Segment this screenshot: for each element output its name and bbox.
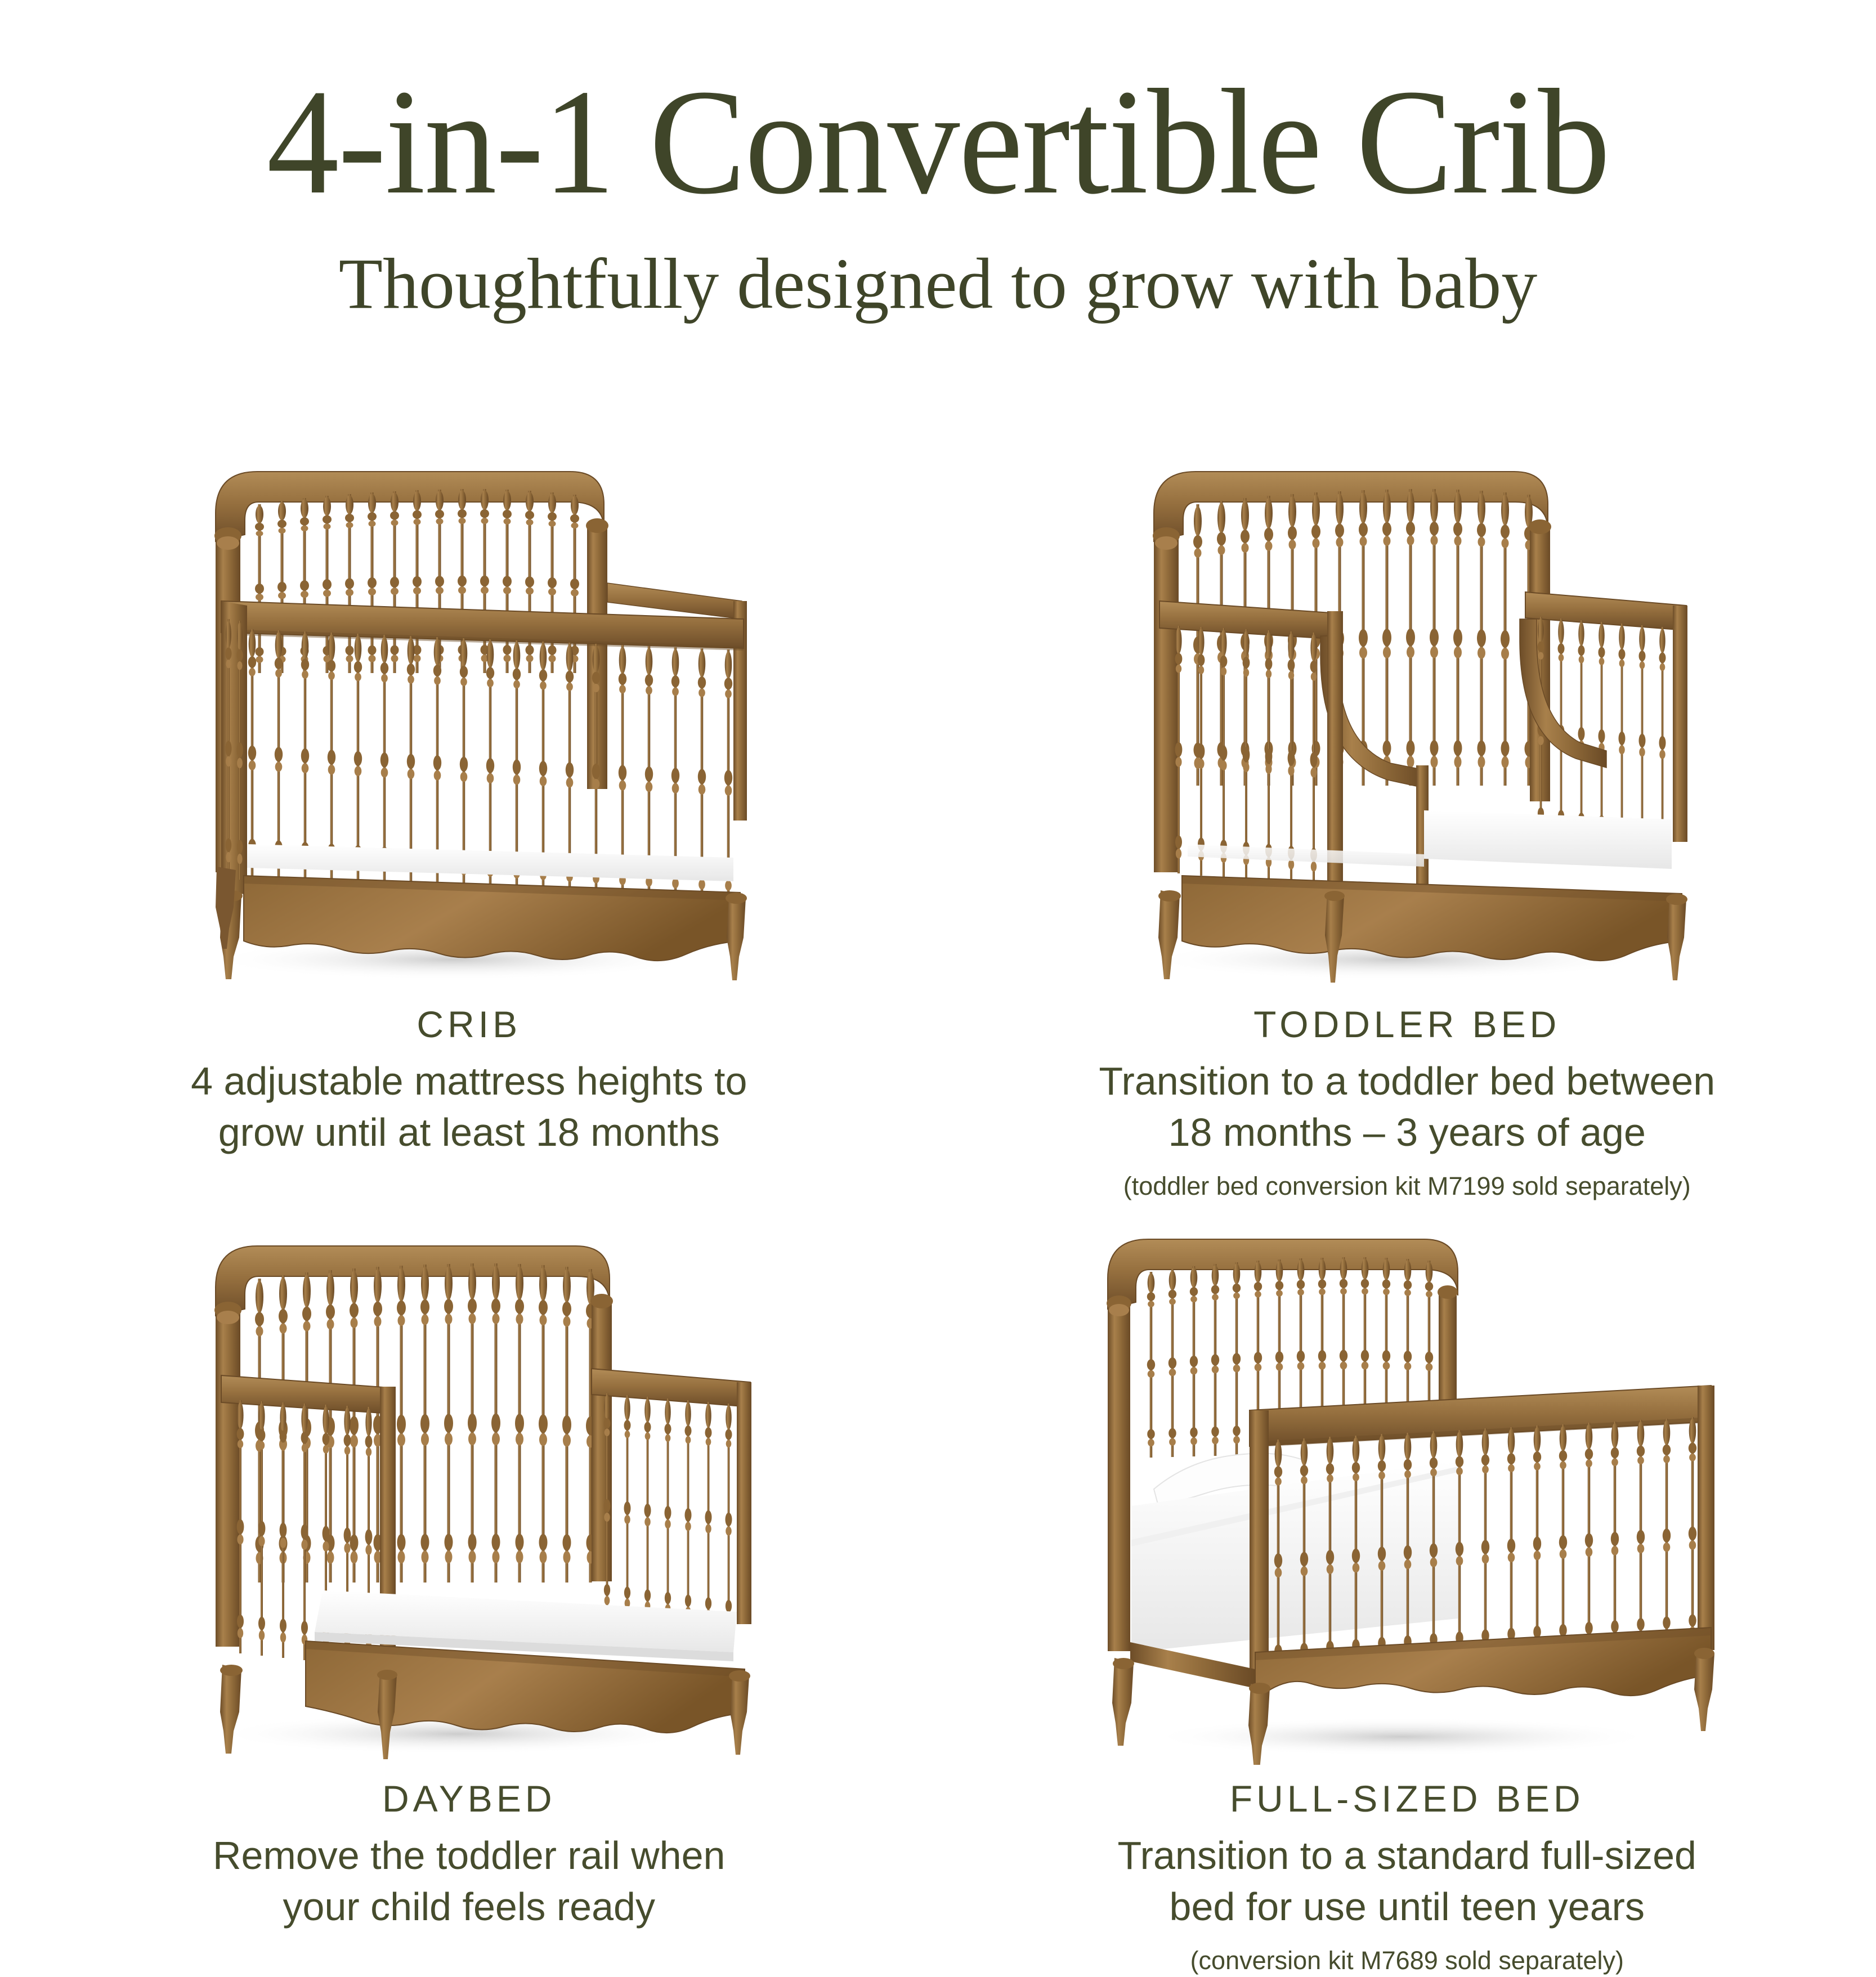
- infographic-page: 4-in-1 Convertible Crib Thoughtfully des…: [0, 0, 1876, 1876]
- panel-toddler-bed: TODDLER BED Transition to a toddler bed …: [938, 428, 1876, 1202]
- panel-label-daybed: DAYBED: [382, 1777, 556, 1820]
- panel-label-crib: CRIB: [417, 1003, 521, 1046]
- panel-label-toddler-bed: TODDLER BED: [1253, 1003, 1560, 1046]
- panel-body-toddler-bed: Transition to a toddler bed between 18 m…: [1099, 1056, 1715, 1158]
- page-title: 4-in-1 Convertible Crib: [38, 66, 1839, 217]
- panel-body-full-sized-bed: Transition to a standard full-sized bed …: [1118, 1830, 1696, 1933]
- panel-body-crib: 4 adjustable mattress heights to grow un…: [191, 1056, 747, 1158]
- panel-body-line: 4 adjustable mattress heights to: [191, 1056, 747, 1107]
- panel-body-line: bed for use until teen years: [1118, 1881, 1696, 1933]
- panel-fineprint-toddler-bed: (toddler bed conversion kit M7199 sold s…: [1123, 1171, 1691, 1202]
- panel-body-daybed: Remove the toddler rail when your child …: [213, 1830, 725, 1933]
- daybed-illustration: [45, 1202, 893, 1765]
- panel-full-sized-bed: FULL-SIZED BED Transition to a standard …: [938, 1202, 1876, 1976]
- toddler-bed-illustration: [983, 428, 1832, 990]
- panel-body-line: Remove the toddler rail when: [213, 1830, 725, 1881]
- panel-crib: CRIB 4 adjustable mattress heights to gr…: [0, 428, 938, 1202]
- full-sized-bed-illustration: [983, 1202, 1832, 1765]
- panel-body-line: Transition to a standard full-sized: [1118, 1830, 1696, 1881]
- configuration-grid: CRIB 4 adjustable mattress heights to gr…: [0, 428, 1876, 1977]
- panel-body-line: grow until at least 18 months: [191, 1107, 747, 1158]
- panel-fineprint-full-sized-bed: (conversion kit M7689 sold separately): [1190, 1945, 1624, 1976]
- panel-daybed: DAYBED Remove the toddler rail when your…: [0, 1202, 938, 1976]
- panel-label-full-sized-bed: FULL-SIZED BED: [1230, 1777, 1584, 1820]
- panel-body-line: 18 months – 3 years of age: [1099, 1107, 1715, 1158]
- header: 4-in-1 Convertible Crib Thoughtfully des…: [0, 0, 1876, 320]
- panel-body-line: your child feels ready: [213, 1881, 725, 1933]
- panel-body-line: Transition to a toddler bed between: [1099, 1056, 1715, 1107]
- page-subtitle: Thoughtfully designed to grow with baby: [0, 248, 1876, 320]
- crib-illustration: [45, 428, 893, 990]
